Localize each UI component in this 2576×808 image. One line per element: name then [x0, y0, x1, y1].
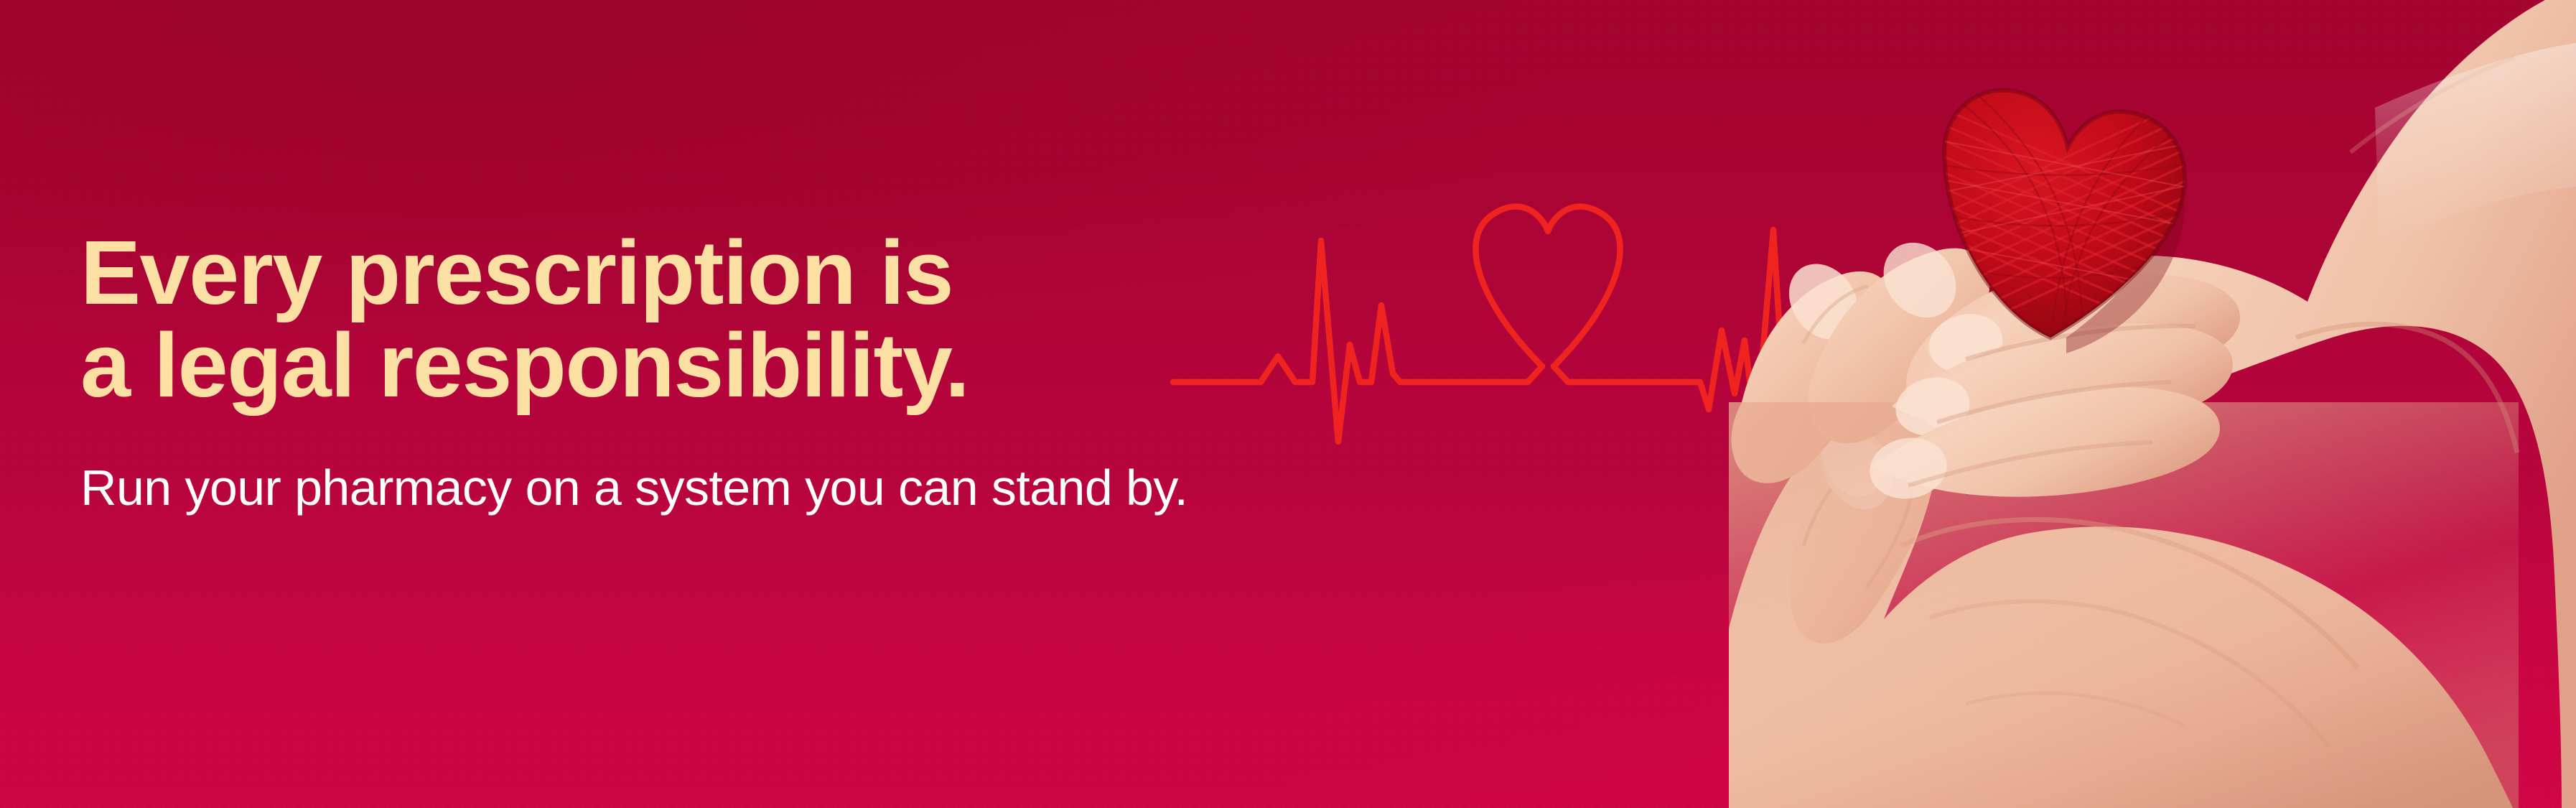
page-title: Every prescription is a legal responsibi…: [80, 228, 1172, 410]
headline-line-1: Every prescription is: [80, 228, 1172, 317]
banner-copy-block: Every prescription is a legal responsibi…: [80, 228, 1172, 514]
hands-holding-yarn-heart-image: [1729, 0, 2576, 808]
promo-banner: Every prescription is a legal responsibi…: [0, 0, 2576, 808]
headline-line-2: a legal responsibility.: [80, 321, 1172, 409]
subheadline: Run your pharmacy on a system you can st…: [80, 410, 1172, 515]
heartbeat-ekg-icon: [1169, 194, 1815, 481]
